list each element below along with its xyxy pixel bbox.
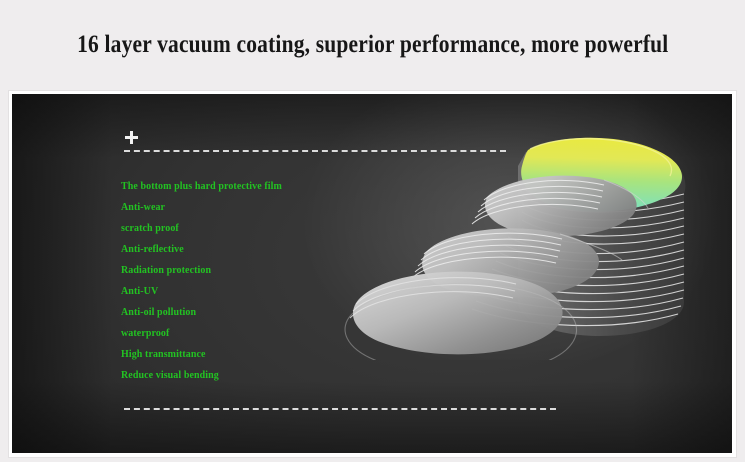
coating-feature-list: The bottom plus hard protective film Ant… (121, 176, 371, 386)
illustration-panel (12, 94, 732, 453)
feature-item: Radiation protection (121, 260, 359, 281)
feature-item: Anti-reflective (121, 239, 359, 260)
page-header: 16 layer vacuum coating, superior perfor… (0, 0, 745, 90)
feature-item: waterproof (121, 323, 359, 344)
plus-icon (125, 131, 138, 144)
guide-line-bottom (124, 408, 556, 410)
feature-item: The bottom plus hard protective film (121, 176, 359, 197)
feature-item: Anti-wear (121, 197, 359, 218)
feature-item: scratch proof (121, 218, 359, 239)
feature-item: Anti-oil pollution (121, 302, 359, 323)
panel-vignette (12, 94, 732, 453)
guide-line-top (124, 150, 506, 152)
feature-item: Anti-UV (121, 281, 359, 302)
feature-item: Reduce visual bending (121, 365, 359, 386)
page-title: 16 layer vacuum coating, superior perfor… (77, 31, 668, 59)
feature-item: High transmittance (121, 344, 359, 365)
